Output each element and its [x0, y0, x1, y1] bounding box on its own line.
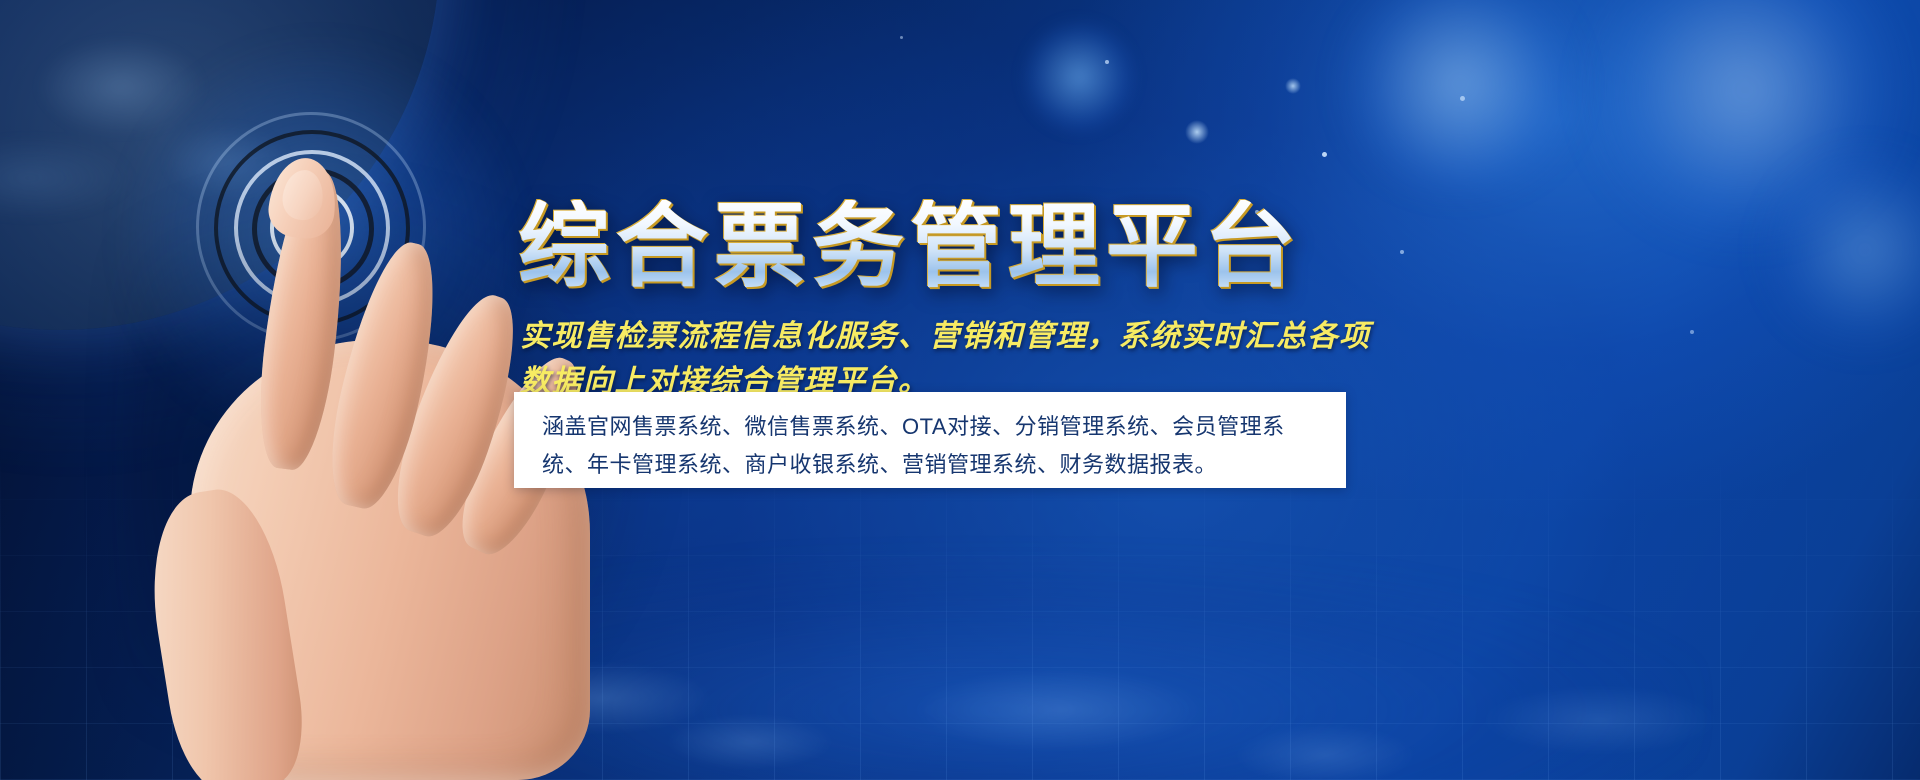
feature-info-box: 涵盖官网售票系统、微信售票系统、OTA对接、分销管理系统、会员管理系统、年卡管理…: [514, 392, 1346, 488]
hero-banner: 综合票务管理平台 实现售检票流程信息化服务、营销和管理，系统实时汇总各项数据向上…: [0, 0, 1920, 780]
banner-subtitle: 实现售检票流程信息化服务、营销和管理，系统实时汇总各项数据向上对接综合管理平台。: [520, 314, 1382, 404]
page-title: 综合票务管理平台: [518, 200, 1302, 292]
banner-content: 综合票务管理平台 实现售检票流程信息化服务、营销和管理，系统实时汇总各项数据向上…: [512, 0, 1912, 780]
feature-info-text: 涵盖官网售票系统、微信售票系统、OTA对接、分销管理系统、会员管理系统、年卡管理…: [542, 408, 1320, 484]
